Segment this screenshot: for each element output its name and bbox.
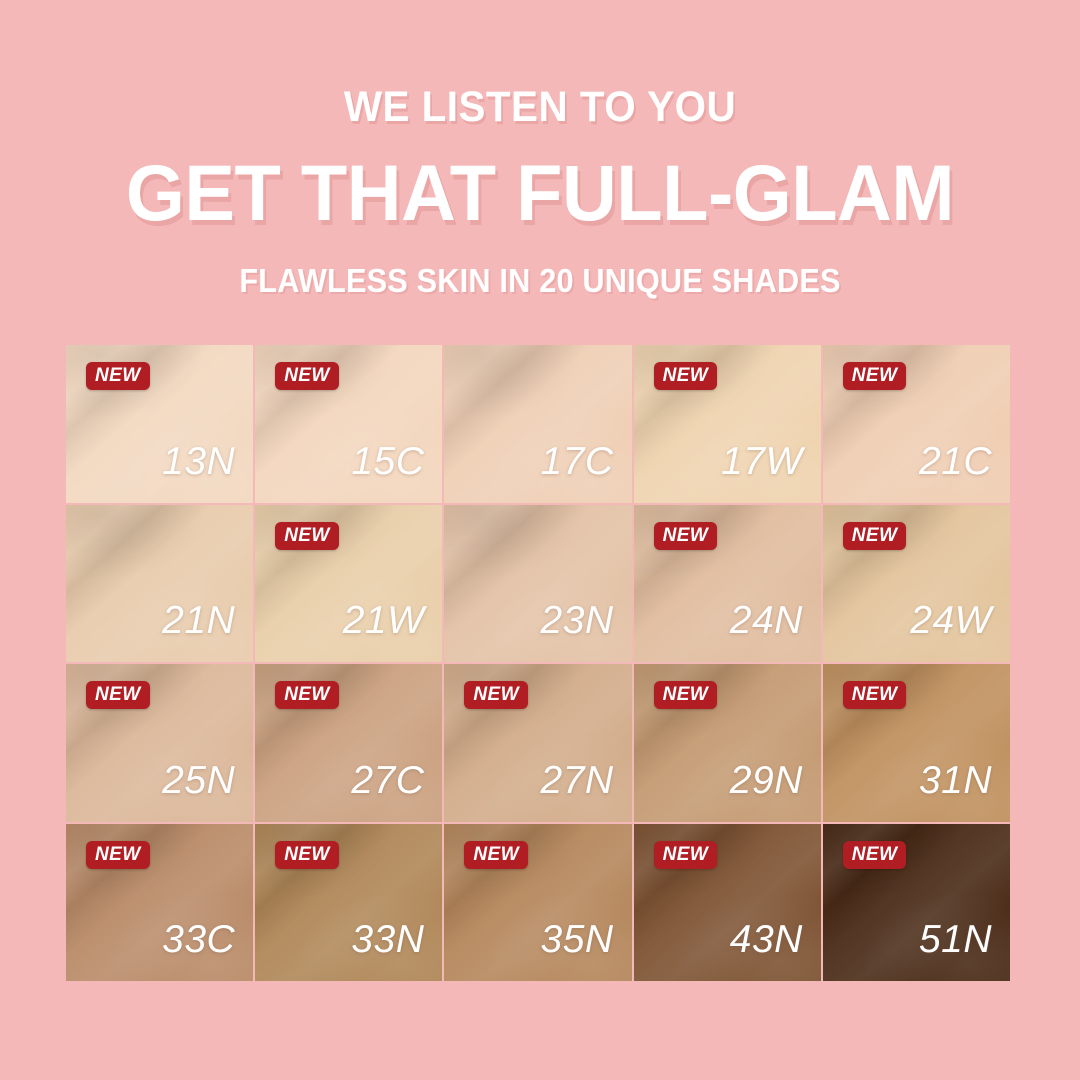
new-badge: NEW [654,522,718,550]
new-badge: NEW [654,841,718,869]
page-title: GET THAT FULL-GLAM [22,153,1059,232]
shade-swatch[interactable]: NEW43N [634,824,821,982]
shade-swatch[interactable]: NEW27N [444,664,631,822]
shade-swatch[interactable]: NEW21W [255,505,442,663]
shade-swatch[interactable]: NEW29N [634,664,821,822]
header-block: WE LISTEN TO YOU GET THAT FULL-GLAM FLAW… [0,0,1080,297]
shade-swatch[interactable]: 17C [444,345,631,503]
shade-code-label: 15C [351,442,424,481]
shade-swatch[interactable]: 23N [444,505,631,663]
new-badge: NEW [843,362,907,390]
shade-code-label: 25N [162,761,235,800]
shade-swatch[interactable]: NEW31N [823,664,1010,822]
new-badge: NEW [275,841,339,869]
new-badge: NEW [275,362,339,390]
shade-code-label: 24W [910,601,992,640]
shade-code-label: 13N [162,442,235,481]
shade-swatch[interactable]: NEW17W [634,345,821,503]
shade-code-label: 33C [162,920,235,959]
shade-swatch[interactable]: NEW13N [66,345,253,503]
shade-swatch[interactable]: NEW27C [255,664,442,822]
shade-code-label: 17C [541,442,614,481]
new-badge: NEW [843,522,907,550]
shade-code-label: 35N [541,920,614,959]
shade-swatch[interactable]: NEW24N [634,505,821,663]
new-badge: NEW [464,841,528,869]
shade-code-label: 43N [730,920,803,959]
new-badge: NEW [86,681,150,709]
shade-swatch[interactable]: 21N [66,505,253,663]
new-badge: NEW [275,522,339,550]
shade-code-label: 31N [919,761,992,800]
shade-swatch[interactable]: NEW24W [823,505,1010,663]
shade-swatch[interactable]: NEW25N [66,664,253,822]
eyebrow-text: WE LISTEN TO YOU [32,86,1047,129]
new-badge: NEW [86,362,150,390]
shade-grid: NEW13NNEW15C17CNEW17WNEW21C21NNEW21W23NN… [66,345,1010,981]
shade-swatch[interactable]: NEW33C [66,824,253,982]
shade-code-label: 21W [343,601,425,640]
shade-swatch[interactable]: NEW35N [444,824,631,982]
shade-swatch[interactable]: NEW21C [823,345,1010,503]
new-badge: NEW [86,841,150,869]
shade-swatch[interactable]: NEW15C [255,345,442,503]
shade-code-label: 33N [351,920,424,959]
new-badge: NEW [654,681,718,709]
shade-code-label: 21N [162,601,235,640]
new-badge: NEW [843,681,907,709]
shade-swatch[interactable]: NEW51N [823,824,1010,982]
shade-code-label: 21C [919,442,992,481]
shade-code-label: 29N [730,761,803,800]
shade-code-label: 27C [351,761,424,800]
new-badge: NEW [275,681,339,709]
shade-code-label: 27N [541,761,614,800]
shade-code-label: 23N [541,601,614,640]
subtitle-text: FLAWLESS SKIN IN 20 UNIQUE SHADES [38,264,1042,297]
shade-swatch[interactable]: NEW33N [255,824,442,982]
new-badge: NEW [464,681,528,709]
new-badge: NEW [654,362,718,390]
new-badge: NEW [843,841,907,869]
shade-code-label: 51N [919,920,992,959]
shade-code-label: 17W [721,442,803,481]
shade-code-label: 24N [730,601,803,640]
